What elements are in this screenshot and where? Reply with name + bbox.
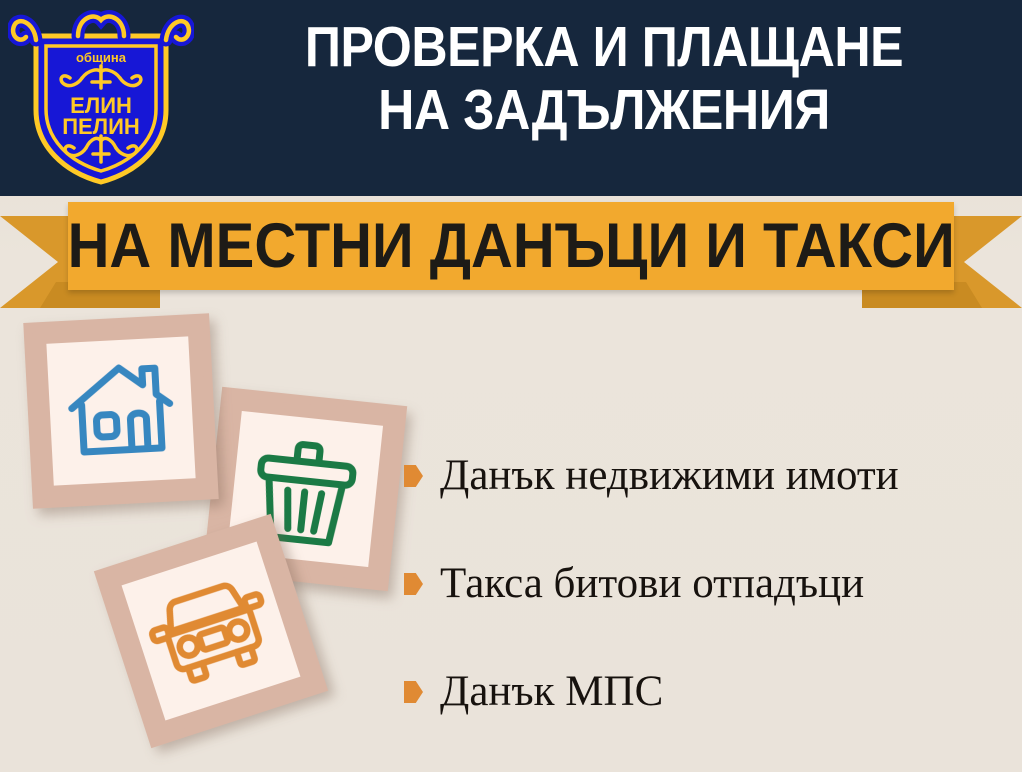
stamp-card-property <box>23 313 218 508</box>
crest-label-top: община <box>76 50 127 65</box>
arrow-right-bullet-icon <box>404 681 423 703</box>
page-title: ПРОВЕРКА И ПЛАЩАНЕ НА ЗАДЪЛЖЕНИЯ <box>245 16 963 142</box>
arrow-right-bullet-icon <box>404 465 423 487</box>
list-item-label: Данък МПС <box>440 668 663 716</box>
ribbon-main-panel: НА МЕСТНИ ДАНЪЦИ И ТАКСИ <box>68 202 954 290</box>
list-item-label: Такса битови отпадъци <box>440 560 864 608</box>
crest-label-line-2: ПЕЛИН <box>62 114 140 139</box>
list-item[interactable]: Данък недвижими имоти <box>404 422 1012 530</box>
tax-type-list: Данък недвижими имоти Такса битови отпад… <box>404 422 1012 746</box>
list-item[interactable]: Такса битови отпадъци <box>404 530 1012 638</box>
list-item[interactable]: Данък МПС <box>404 638 1012 746</box>
ribbon-banner: НА МЕСТНИ ДАНЪЦИ И ТАКСИ <box>0 196 1022 316</box>
poster-canvas: ПРОВЕРКА И ПЛАЩАНЕ НА ЗАДЪЛЖЕНИЯ <box>0 0 1022 772</box>
coat-of-arms: община ЕЛИН ПЕЛИН <box>8 6 194 192</box>
list-item-label: Данък недвижими имоти <box>440 452 899 500</box>
ribbon-subtitle: НА МЕСТНИ ДАНЪЦИ И ТАКСИ <box>67 214 954 278</box>
arrow-right-bullet-icon <box>404 573 423 595</box>
